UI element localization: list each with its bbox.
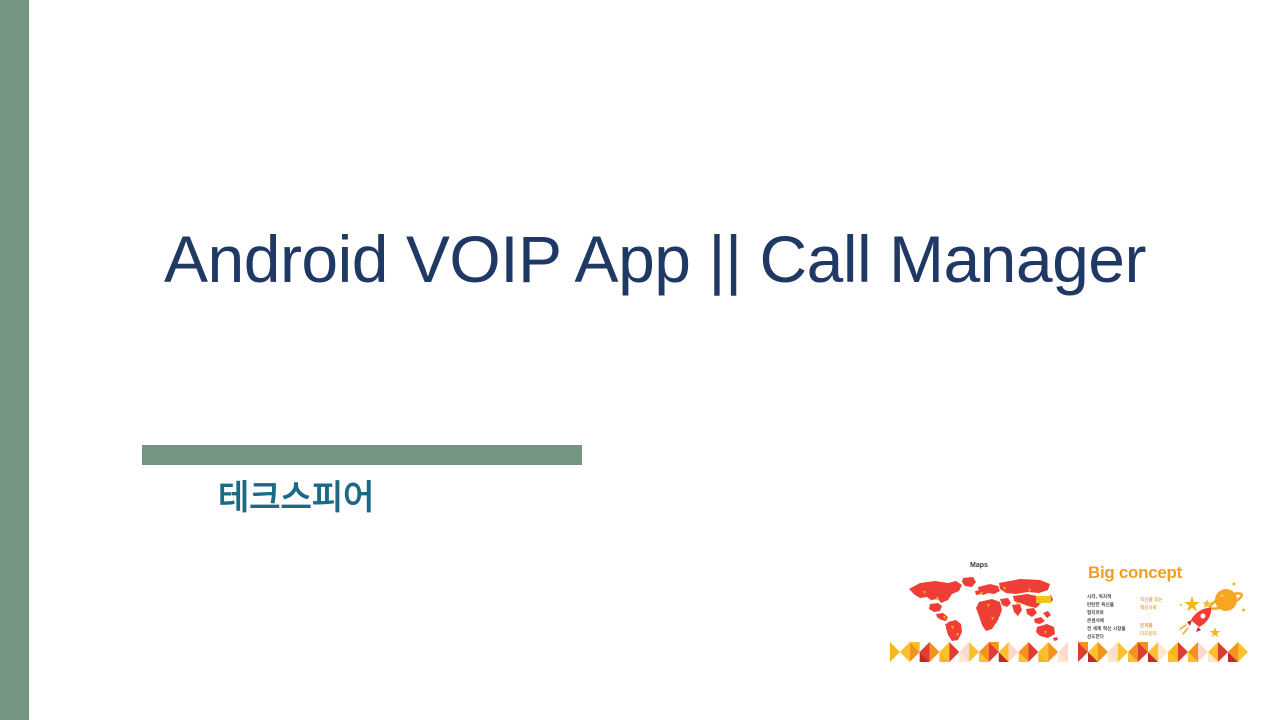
star-icons [1180, 583, 1245, 638]
triangle-pattern-strip [890, 634, 1068, 662]
body-line: 콘센서에 [1087, 618, 1126, 626]
subtitle-accent-bar [142, 445, 582, 465]
body-line: 형지르로 [1087, 610, 1126, 618]
maps-label: Maps [890, 562, 1068, 569]
accent-line: 지신을 있는 [1140, 597, 1163, 605]
rocket-icon [1180, 608, 1211, 634]
big-concept-accent-text-top: 지신을 있는 혁신사로 [1140, 597, 1163, 613]
subtitle-text: 테크스피어 [218, 478, 374, 519]
big-concept-thumbnail: Big concept 시각, 독자적 탄탄한 독신을 형지르로 콘센서에 전 … [1078, 557, 1248, 670]
maps-thumbnail: Maps [890, 557, 1068, 670]
presentation-slide: Android VOIP App || Call Manager 테크스피어 M… [0, 0, 1280, 720]
space-illustration [1173, 579, 1248, 639]
world-map-icon [900, 574, 1060, 642]
accent-line: 문제를 [1140, 623, 1157, 631]
triangle-pattern-strip [1078, 634, 1248, 662]
big-concept-heading: Big concept [1088, 563, 1182, 583]
accent-line: 혁신사로 [1140, 605, 1163, 613]
left-accent-band [0, 0, 29, 720]
body-line: 전 세계 혁신 시장을 [1087, 626, 1126, 634]
body-line: 시각, 독자적 [1087, 594, 1126, 602]
page-title: Android VOIP App || Call Manager [140, 222, 1170, 298]
body-line: 탄탄한 독신을 [1087, 602, 1126, 610]
planet-icon [1209, 589, 1244, 612]
